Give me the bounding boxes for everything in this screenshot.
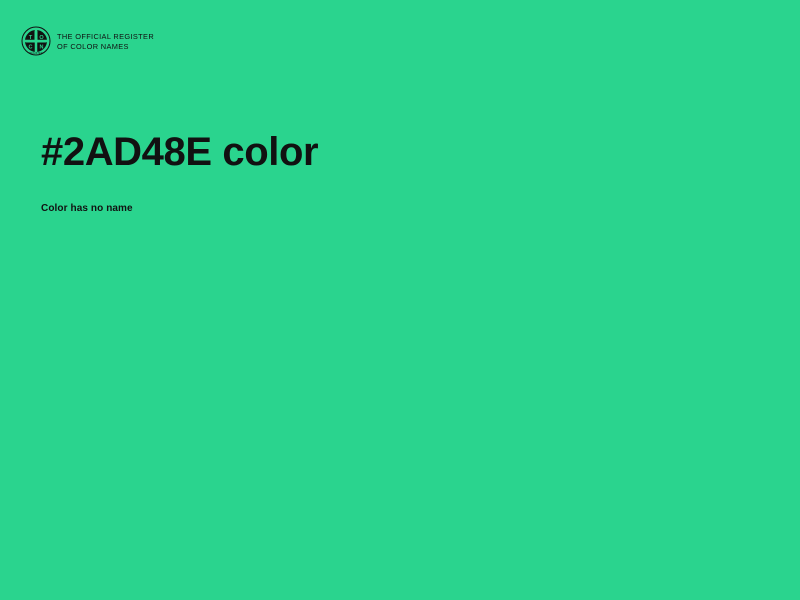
svg-text:C: C xyxy=(29,45,33,51)
color-page: T O C N REGISTER THE OFFICIAL REGISTER O… xyxy=(0,0,800,600)
brand-title-line-1: THE OFFICIAL REGISTER xyxy=(57,32,154,42)
brand-lockup[interactable]: T O C N REGISTER THE OFFICIAL REGISTER O… xyxy=(21,26,154,56)
brand-title-line-2: OF COLOR NAMES xyxy=(57,42,154,52)
svg-text:REGISTER: REGISTER xyxy=(29,53,42,55)
color-info-block: #2AD48E color Color has no name xyxy=(41,128,741,216)
color-name-status: Color has no name xyxy=(41,176,741,216)
svg-text:O: O xyxy=(39,35,44,41)
svg-text:N: N xyxy=(40,45,44,51)
official-register-seal-icon: T O C N REGISTER xyxy=(21,26,51,56)
page-title: #2AD48E color xyxy=(41,128,741,176)
brand-title: THE OFFICIAL REGISTER OF COLOR NAMES xyxy=(57,31,154,51)
